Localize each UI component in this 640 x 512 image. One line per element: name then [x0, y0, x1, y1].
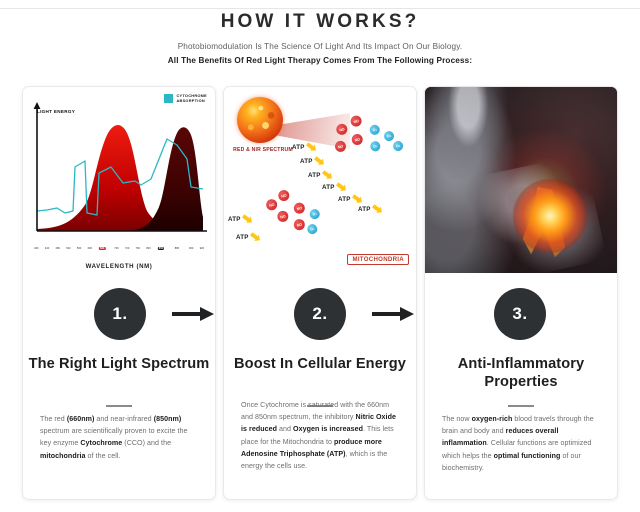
red-nir-spectrum-label: RED & NIR SPECTRUM: [232, 147, 294, 154]
step-badge-1: 1.: [94, 288, 146, 340]
card-1-title: The Right Light Spectrum: [23, 355, 215, 373]
knee-inflammation-image: [425, 87, 617, 273]
step-arrow-1: [172, 312, 216, 316]
atp-arrow-2: ATP: [300, 157, 325, 165]
card-1-body: The red (660nm) and near-infrared (850nm…: [40, 413, 198, 462]
process-steps: 1. 2. 3.: [0, 288, 640, 350]
chart-x-tick-labels: 400440480 520560600 660700720 760800 850…: [31, 247, 209, 254]
card-2-title: Boost In Cellular Energy: [224, 355, 416, 373]
step-badge-2: 2.: [294, 288, 346, 340]
inflammation-glow: [513, 179, 587, 253]
card-3-title: Anti-Inflammatory Properties: [425, 355, 617, 391]
card-2-body: Once Cytochrome is saturated with the 66…: [241, 399, 399, 472]
how-it-works-section: HOW IT WORKS? Photobiomodulation Is The …: [0, 0, 640, 512]
subtitle-primary: Photobiomodulation Is The Science Of Lig…: [0, 42, 640, 51]
subtitle-secondary: All The Benefits Of Red Light Therapy Co…: [0, 56, 640, 65]
card-1-divider: [106, 405, 132, 407]
light-spectrum-chart: CYTOCHROMEABSORPTION LIGHT ENERGY: [23, 87, 215, 273]
step-badge-3: 3.: [494, 288, 546, 340]
card-3-media: [425, 87, 617, 273]
card-3-body: The now oxygen-rich blood travels throug…: [442, 413, 600, 474]
atp-arrow-6: ATP: [358, 205, 383, 213]
mitochondria-label: MITOCHONDRIA: [347, 254, 409, 265]
card-3-divider: [508, 405, 534, 407]
sun-icon: [237, 97, 283, 143]
card-1-media: CYTOCHROMEABSORPTION LIGHT ENERGY: [23, 87, 215, 273]
atp-arrow-8: ATP: [236, 233, 261, 241]
top-divider: [0, 8, 640, 9]
page-title: HOW IT WORKS?: [0, 12, 640, 33]
card-2-media: RED & NIR SPECTRUM NO NO NO NO O₂ O₂ O₂ …: [224, 87, 416, 273]
chart-plot-area: [31, 101, 209, 241]
step-arrow-2: [372, 312, 416, 316]
chart-x-axis-label: WAVELENGTH (NM): [23, 263, 215, 270]
section-header: HOW IT WORKS? Photobiomodulation Is The …: [0, 12, 640, 65]
mitochondria-illustration: RED & NIR SPECTRUM NO NO NO NO O₂ O₂ O₂ …: [224, 87, 416, 273]
atp-arrow-1: ATP: [292, 143, 317, 151]
atp-arrow-7: ATP: [228, 215, 253, 223]
